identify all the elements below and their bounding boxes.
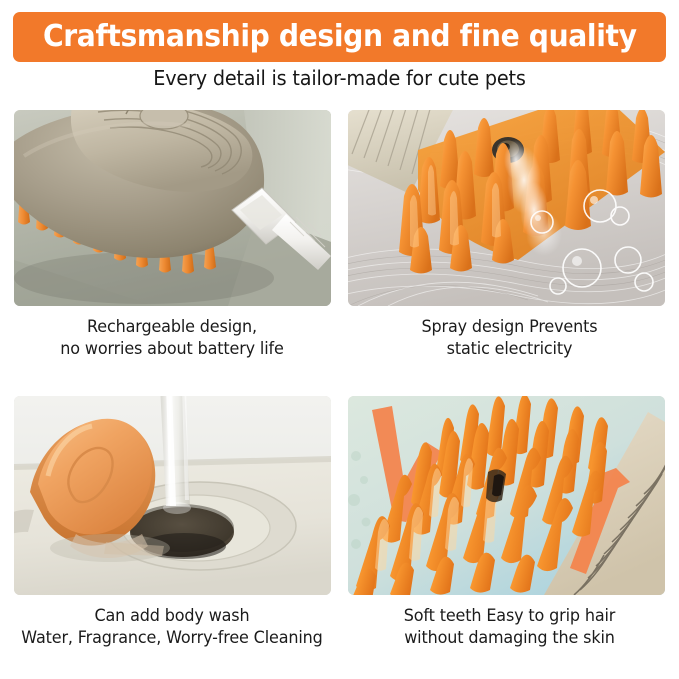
product-infographic: Craftsmanship design and fine quality Ev… — [0, 0, 679, 679]
caption-line-1: Rechargeable design, — [5, 316, 339, 338]
panel-body-wash-image — [14, 396, 331, 595]
panel-add-body-wash — [14, 396, 331, 595]
caption-add-body-wash: Can add body wash Water, Fragrance, Worr… — [5, 605, 339, 649]
caption-line-2: static electricity — [345, 338, 674, 360]
caption-line-1: Can add body wash — [5, 605, 339, 627]
caption-line-2: without damaging the skin — [345, 627, 674, 649]
panel-soft-teeth-image — [348, 396, 665, 595]
panel-rechargeable-design — [14, 110, 331, 306]
caption-spray-design: Spray design Prevents static electricity — [345, 316, 674, 360]
panel-soft-teeth — [348, 396, 665, 595]
caption-line-1: Soft teeth Easy to grip hair — [345, 605, 674, 627]
panel-spray-image — [348, 110, 665, 306]
caption-line-2: no worries about battery life — [5, 338, 339, 360]
header-banner: Craftsmanship design and fine quality — [13, 12, 666, 62]
banner-title: Craftsmanship design and fine quality — [43, 22, 637, 52]
caption-line-1: Spray design Prevents — [345, 316, 674, 338]
panel-spray-design — [348, 110, 665, 306]
caption-soft-teeth: Soft teeth Easy to grip hair without dam… — [345, 605, 674, 649]
caption-rechargeable-design: Rechargeable design, no worries about ba… — [5, 316, 339, 360]
caption-line-2: Water, Fragrance, Worry-free Cleaning — [5, 627, 339, 649]
subtitle: Every detail is tailor-made for cute pet… — [14, 66, 666, 90]
panel-rechargeable-image — [14, 110, 331, 306]
